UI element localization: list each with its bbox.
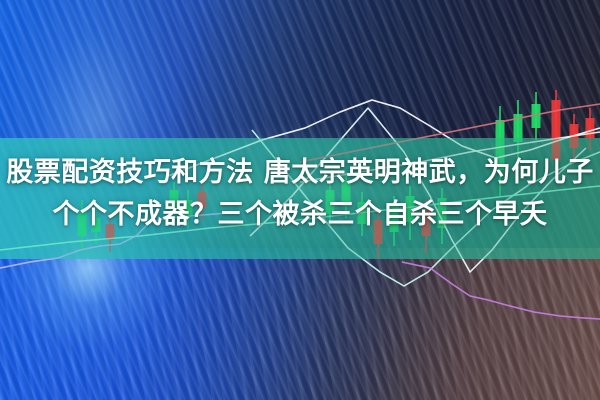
trend-line: [402, 262, 600, 319]
headline-line-2: 个个不成器？三个被杀三个自杀三个早夭: [0, 194, 600, 236]
page-title: 股票配资技巧和方法 唐太宗英明神武，为何儿子 个个不成器？三个被杀三个自杀三个早…: [0, 152, 600, 236]
candle-body: [552, 100, 561, 160]
headline-line-1: 股票配资技巧和方法 唐太宗英明神武，为何儿子: [0, 152, 600, 194]
banner-image: 股票配资技巧和方法 唐太宗英明神武，为何儿子 个个不成器？三个被杀三个自杀三个早…: [0, 0, 600, 400]
candle-body: [586, 118, 595, 138]
